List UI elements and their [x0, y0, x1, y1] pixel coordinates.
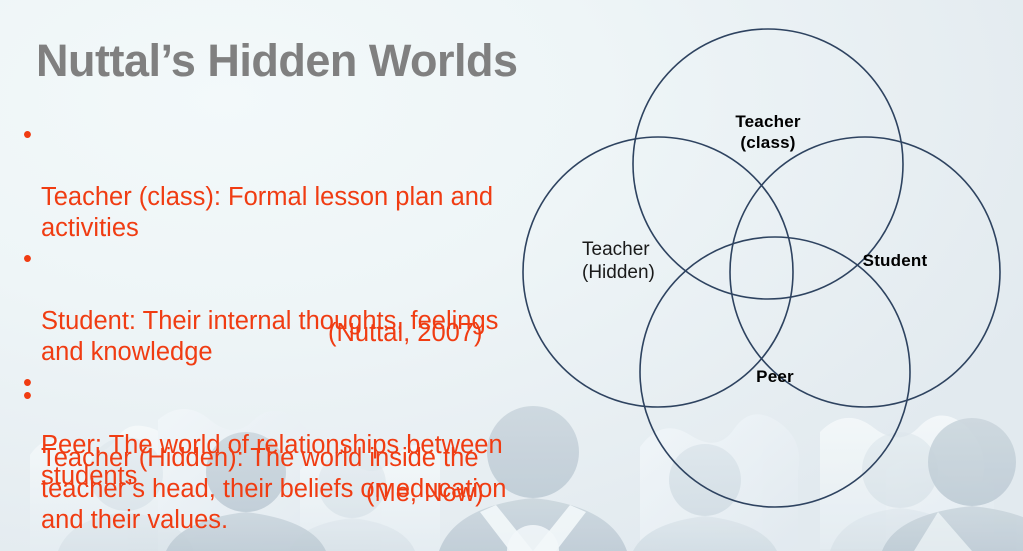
bullet-marker-icon: • [23, 381, 32, 412]
citation-me-now: (Me, Now) [366, 478, 484, 509]
venn-label-student: Student [835, 251, 955, 272]
list-item: • Student: Their internal thoughts, feel… [10, 244, 520, 368]
list-item: • Teacher (class): Formal lesson plan an… [10, 120, 520, 244]
content-column: Nuttal’s Hidden Worlds • Teacher (class)… [0, 0, 530, 551]
venn-diagram: Teacher (class) Student Peer Teacher (Hi… [500, 0, 1023, 551]
citation-nuttal: (Nuttal, 2007) [328, 318, 483, 349]
bullet-list-bottom: • Teacher (Hidden): The world inside the… [10, 381, 520, 536]
venn-label-teacher-class: Teacher (class) [698, 112, 838, 153]
list-item: • Teacher (Hidden): The world inside the… [10, 381, 520, 536]
bullet-marker-icon: • [23, 120, 32, 151]
list-item-label: Teacher (class): Formal lesson plan and … [41, 183, 493, 242]
slide-canvas: Nuttal’s Hidden Worlds • Teacher (class)… [0, 0, 1023, 551]
venn-circles [500, 0, 1023, 551]
venn-label-peer: Peer [715, 367, 835, 388]
venn-label-teacher-hidden: Teacher (Hidden) [582, 238, 722, 284]
page-title: Nuttal’s Hidden Worlds [36, 35, 518, 87]
bullet-marker-icon: • [23, 244, 32, 275]
